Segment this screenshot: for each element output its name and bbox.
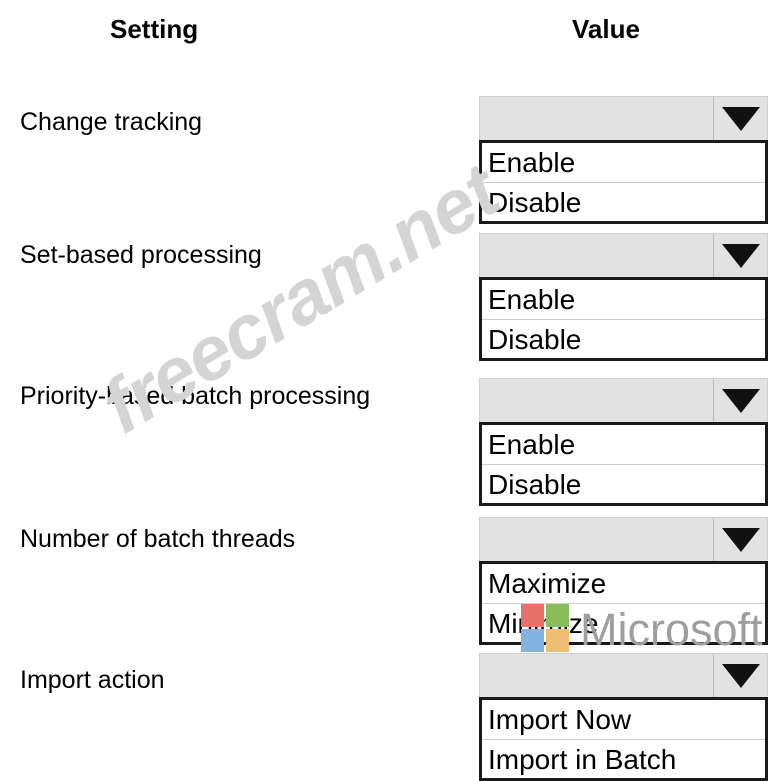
combobox-list-import-action[interactable]: Import Now Import in Batch [479, 697, 768, 781]
settings-value-table: freecram.net Setting Value Change tracki… [0, 0, 779, 768]
chevron-down-icon[interactable] [714, 379, 767, 422]
chevron-down-icon[interactable] [714, 97, 767, 140]
combobox-value-set-based-processing[interactable] [480, 234, 714, 277]
list-item[interactable]: Disable [482, 182, 765, 221]
list-item[interactable]: Enable [482, 143, 765, 182]
combobox-value-number-of-batch-threads[interactable] [480, 518, 714, 561]
combobox-number-of-batch-threads[interactable] [479, 517, 768, 562]
combobox-list-change-tracking[interactable]: Enable Disable [479, 140, 768, 224]
list-item[interactable]: Disable [482, 464, 765, 503]
combobox-priority-based-batch-processing[interactable] [479, 378, 768, 423]
list-item[interactable]: Enable [482, 425, 765, 464]
chevron-down-icon[interactable] [714, 654, 767, 697]
combobox-list-set-based-processing[interactable]: Enable Disable [479, 277, 768, 361]
row-label-import-action: Import action [20, 668, 165, 693]
combobox-change-tracking[interactable] [479, 96, 768, 141]
row-label-set-based-processing: Set-based processing [20, 243, 262, 268]
combobox-value-import-action[interactable] [480, 654, 714, 697]
combobox-list-priority-based-batch-processing[interactable]: Enable Disable [479, 422, 768, 506]
list-item[interactable]: Import Now [482, 700, 765, 739]
column-header-value: Value [572, 16, 640, 42]
combobox-set-based-processing[interactable] [479, 233, 768, 278]
column-header-setting: Setting [110, 16, 198, 42]
chevron-down-icon[interactable] [714, 518, 767, 561]
row-label-priority-based-batch-processing: Priority-based batch processing [20, 384, 370, 409]
combobox-value-change-tracking[interactable] [480, 97, 714, 140]
combobox-import-action[interactable] [479, 653, 768, 698]
list-item[interactable]: Disable [482, 319, 765, 358]
row-label-number-of-batch-threads: Number of batch threads [20, 527, 295, 552]
list-item[interactable]: Import in Batch [482, 739, 765, 778]
list-item[interactable]: Minimize [482, 603, 765, 642]
combobox-value-priority-based-batch-processing[interactable] [480, 379, 714, 422]
list-item[interactable]: Maximize [482, 564, 765, 603]
chevron-down-icon[interactable] [714, 234, 767, 277]
list-item[interactable]: Enable [482, 280, 765, 319]
combobox-list-number-of-batch-threads[interactable]: Maximize Minimize [479, 561, 768, 645]
row-label-change-tracking: Change tracking [20, 110, 202, 135]
